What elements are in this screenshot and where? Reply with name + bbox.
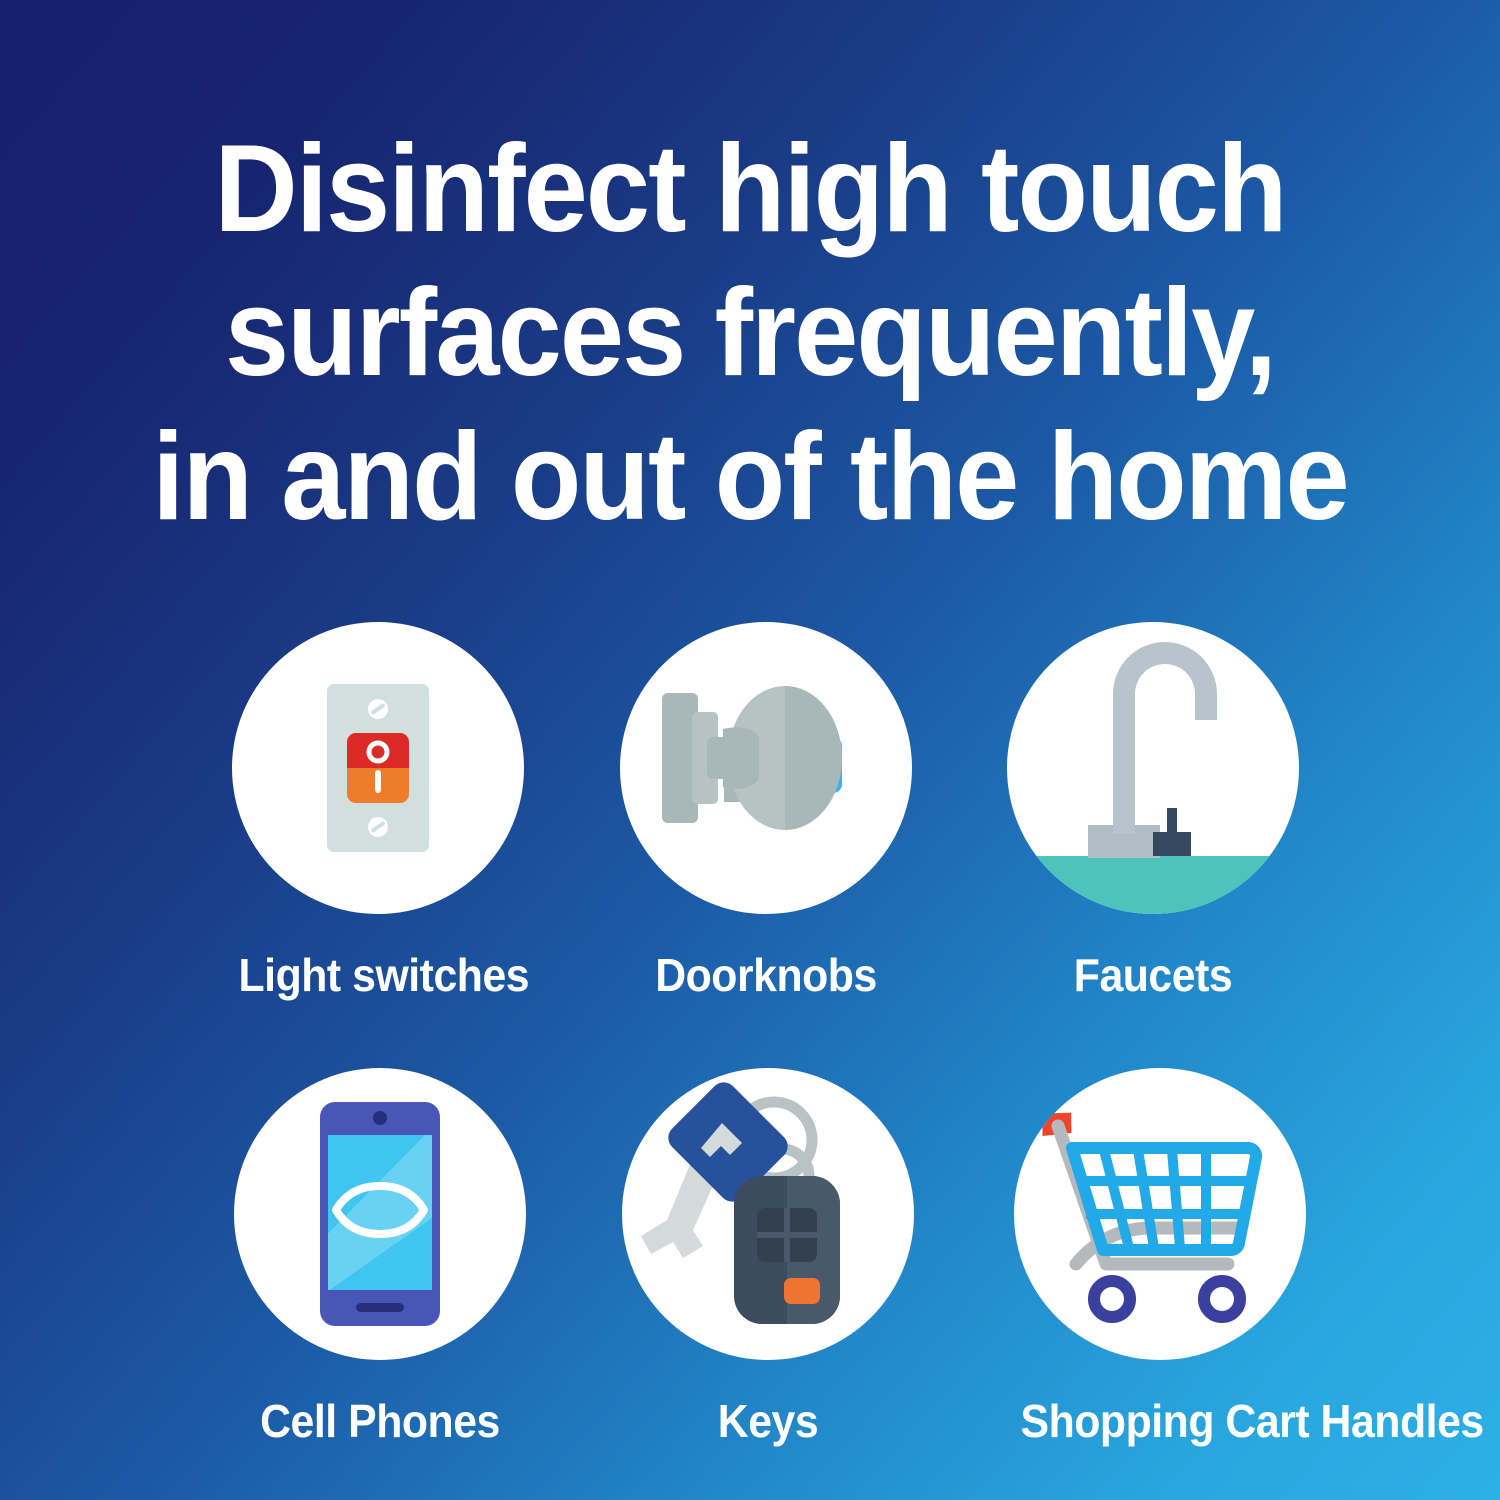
- icon-row-2: Cell Phones: [0, 1050, 1500, 1500]
- tile-label-faucet: Faucets: [1014, 948, 1293, 1002]
- tile-label-doorknob: Doorknobs: [627, 948, 906, 1002]
- cell-phone-icon: [234, 1068, 526, 1360]
- light-switch-icon: [232, 622, 524, 914]
- keys-icon: [622, 1068, 914, 1360]
- doorknob-disc: [620, 622, 912, 914]
- tile-label-cell-phone: Cell Phones: [241, 1394, 520, 1448]
- page-title: Disinfect high touch surfaces frequently…: [53, 118, 1448, 549]
- shopping-cart-icon: [1014, 1068, 1306, 1360]
- tile-doorknob[interactable]: Doorknobs: [616, 622, 916, 1002]
- infographic-poster: Disinfect high touch surfaces frequently…: [0, 0, 1500, 1500]
- tile-label-shopping-cart: Shopping Cart Handles: [1021, 1394, 1300, 1448]
- tile-faucet[interactable]: Faucets: [1003, 622, 1303, 1002]
- light-switch-disc: [232, 622, 524, 914]
- tile-label-light-switch: Light switches: [239, 948, 518, 1002]
- doorknob-icon: [620, 622, 912, 914]
- faucet-disc: [1007, 622, 1299, 914]
- faucet-icon: [1007, 622, 1299, 914]
- icon-grid: Light switches: [0, 600, 1500, 1500]
- tile-keys[interactable]: Keys: [618, 1068, 918, 1448]
- keys-disc: [622, 1068, 914, 1360]
- tile-light-switch[interactable]: Light switches: [228, 622, 528, 1002]
- tile-shopping-cart[interactable]: Shopping Cart Handles: [1010, 1068, 1310, 1448]
- shopping-cart-disc: [1014, 1068, 1306, 1360]
- tile-label-keys: Keys: [629, 1394, 908, 1448]
- icon-row-1: Light switches: [0, 600, 1500, 1050]
- tile-cell-phone[interactable]: Cell Phones: [230, 1068, 530, 1448]
- cell-phone-disc: [234, 1068, 526, 1360]
